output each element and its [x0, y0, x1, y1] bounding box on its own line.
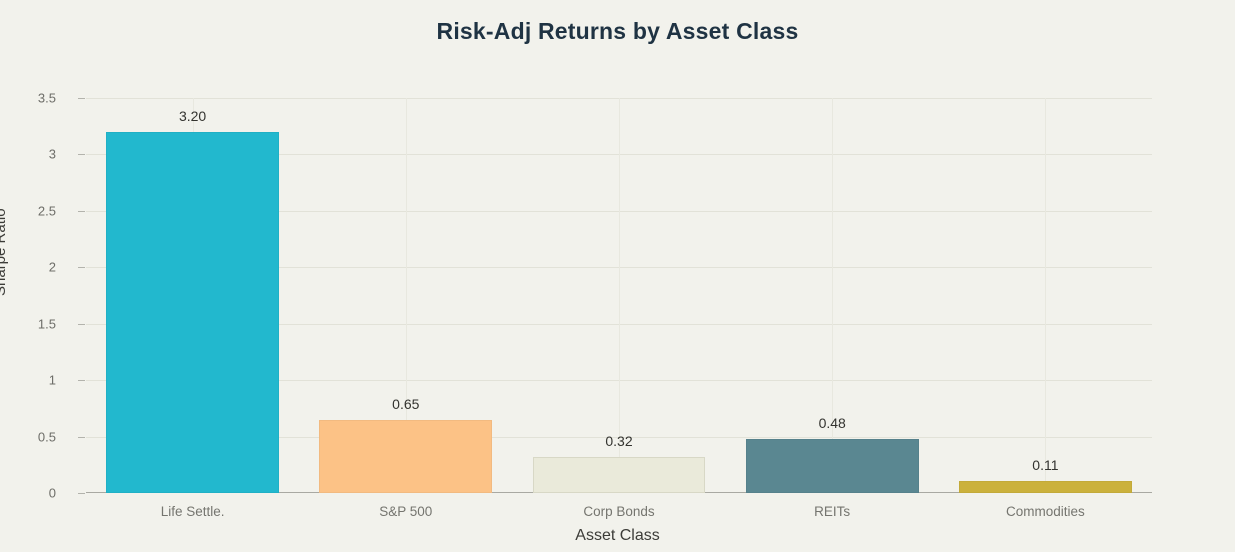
y-tick-mark	[78, 154, 85, 155]
bar-value-label: 0.65	[319, 396, 492, 412]
y-tick-mark	[78, 267, 85, 268]
y-tick-label: 0	[0, 486, 56, 501]
bar-value-label: 0.48	[746, 415, 919, 431]
bar-life-settle[interactable]	[106, 132, 279, 493]
bar-corp-bonds[interactable]	[533, 457, 706, 493]
x-tick-label: Life Settle.	[86, 504, 299, 519]
y-tick-label: 2.5	[0, 203, 56, 218]
bar-reits[interactable]	[746, 439, 919, 493]
y-tick-mark	[78, 211, 85, 212]
bar-value-label: 3.20	[106, 108, 279, 124]
bar-s-p-500[interactable]	[319, 420, 492, 493]
x-tick-label: REITs	[726, 504, 939, 519]
bar-value-label: 0.11	[959, 457, 1132, 473]
x-tick-label: Commodities	[939, 504, 1152, 519]
x-gridline	[832, 98, 833, 493]
y-tick-mark	[78, 98, 85, 99]
x-axis-title: Asset Class	[0, 527, 1235, 545]
y-tick-mark	[78, 437, 85, 438]
y-tick-label: 2	[0, 260, 56, 275]
chart-title: Risk-Adj Returns by Asset Class	[0, 18, 1235, 45]
bar-commodities[interactable]	[959, 481, 1132, 493]
x-tick-label: S&P 500	[299, 504, 512, 519]
y-tick-mark	[78, 380, 85, 381]
y-tick-mark	[78, 493, 85, 494]
y-tick-label: 1	[0, 373, 56, 388]
x-tick-label: Corp Bonds	[512, 504, 725, 519]
plot-area: 3.200.650.320.480.11	[86, 98, 1152, 493]
y-tick-mark	[78, 324, 85, 325]
x-gridline	[1045, 98, 1046, 493]
y-axis-title: Sharpe Ratio	[0, 208, 9, 296]
y-tick-label: 0.5	[0, 429, 56, 444]
y-tick-label: 3.5	[0, 91, 56, 106]
y-tick-label: 1.5	[0, 316, 56, 331]
y-tick-label: 3	[0, 147, 56, 162]
bar-value-label: 0.32	[533, 433, 706, 449]
chart-figure: Risk-Adj Returns by Asset Class Sharpe R…	[0, 0, 1235, 552]
